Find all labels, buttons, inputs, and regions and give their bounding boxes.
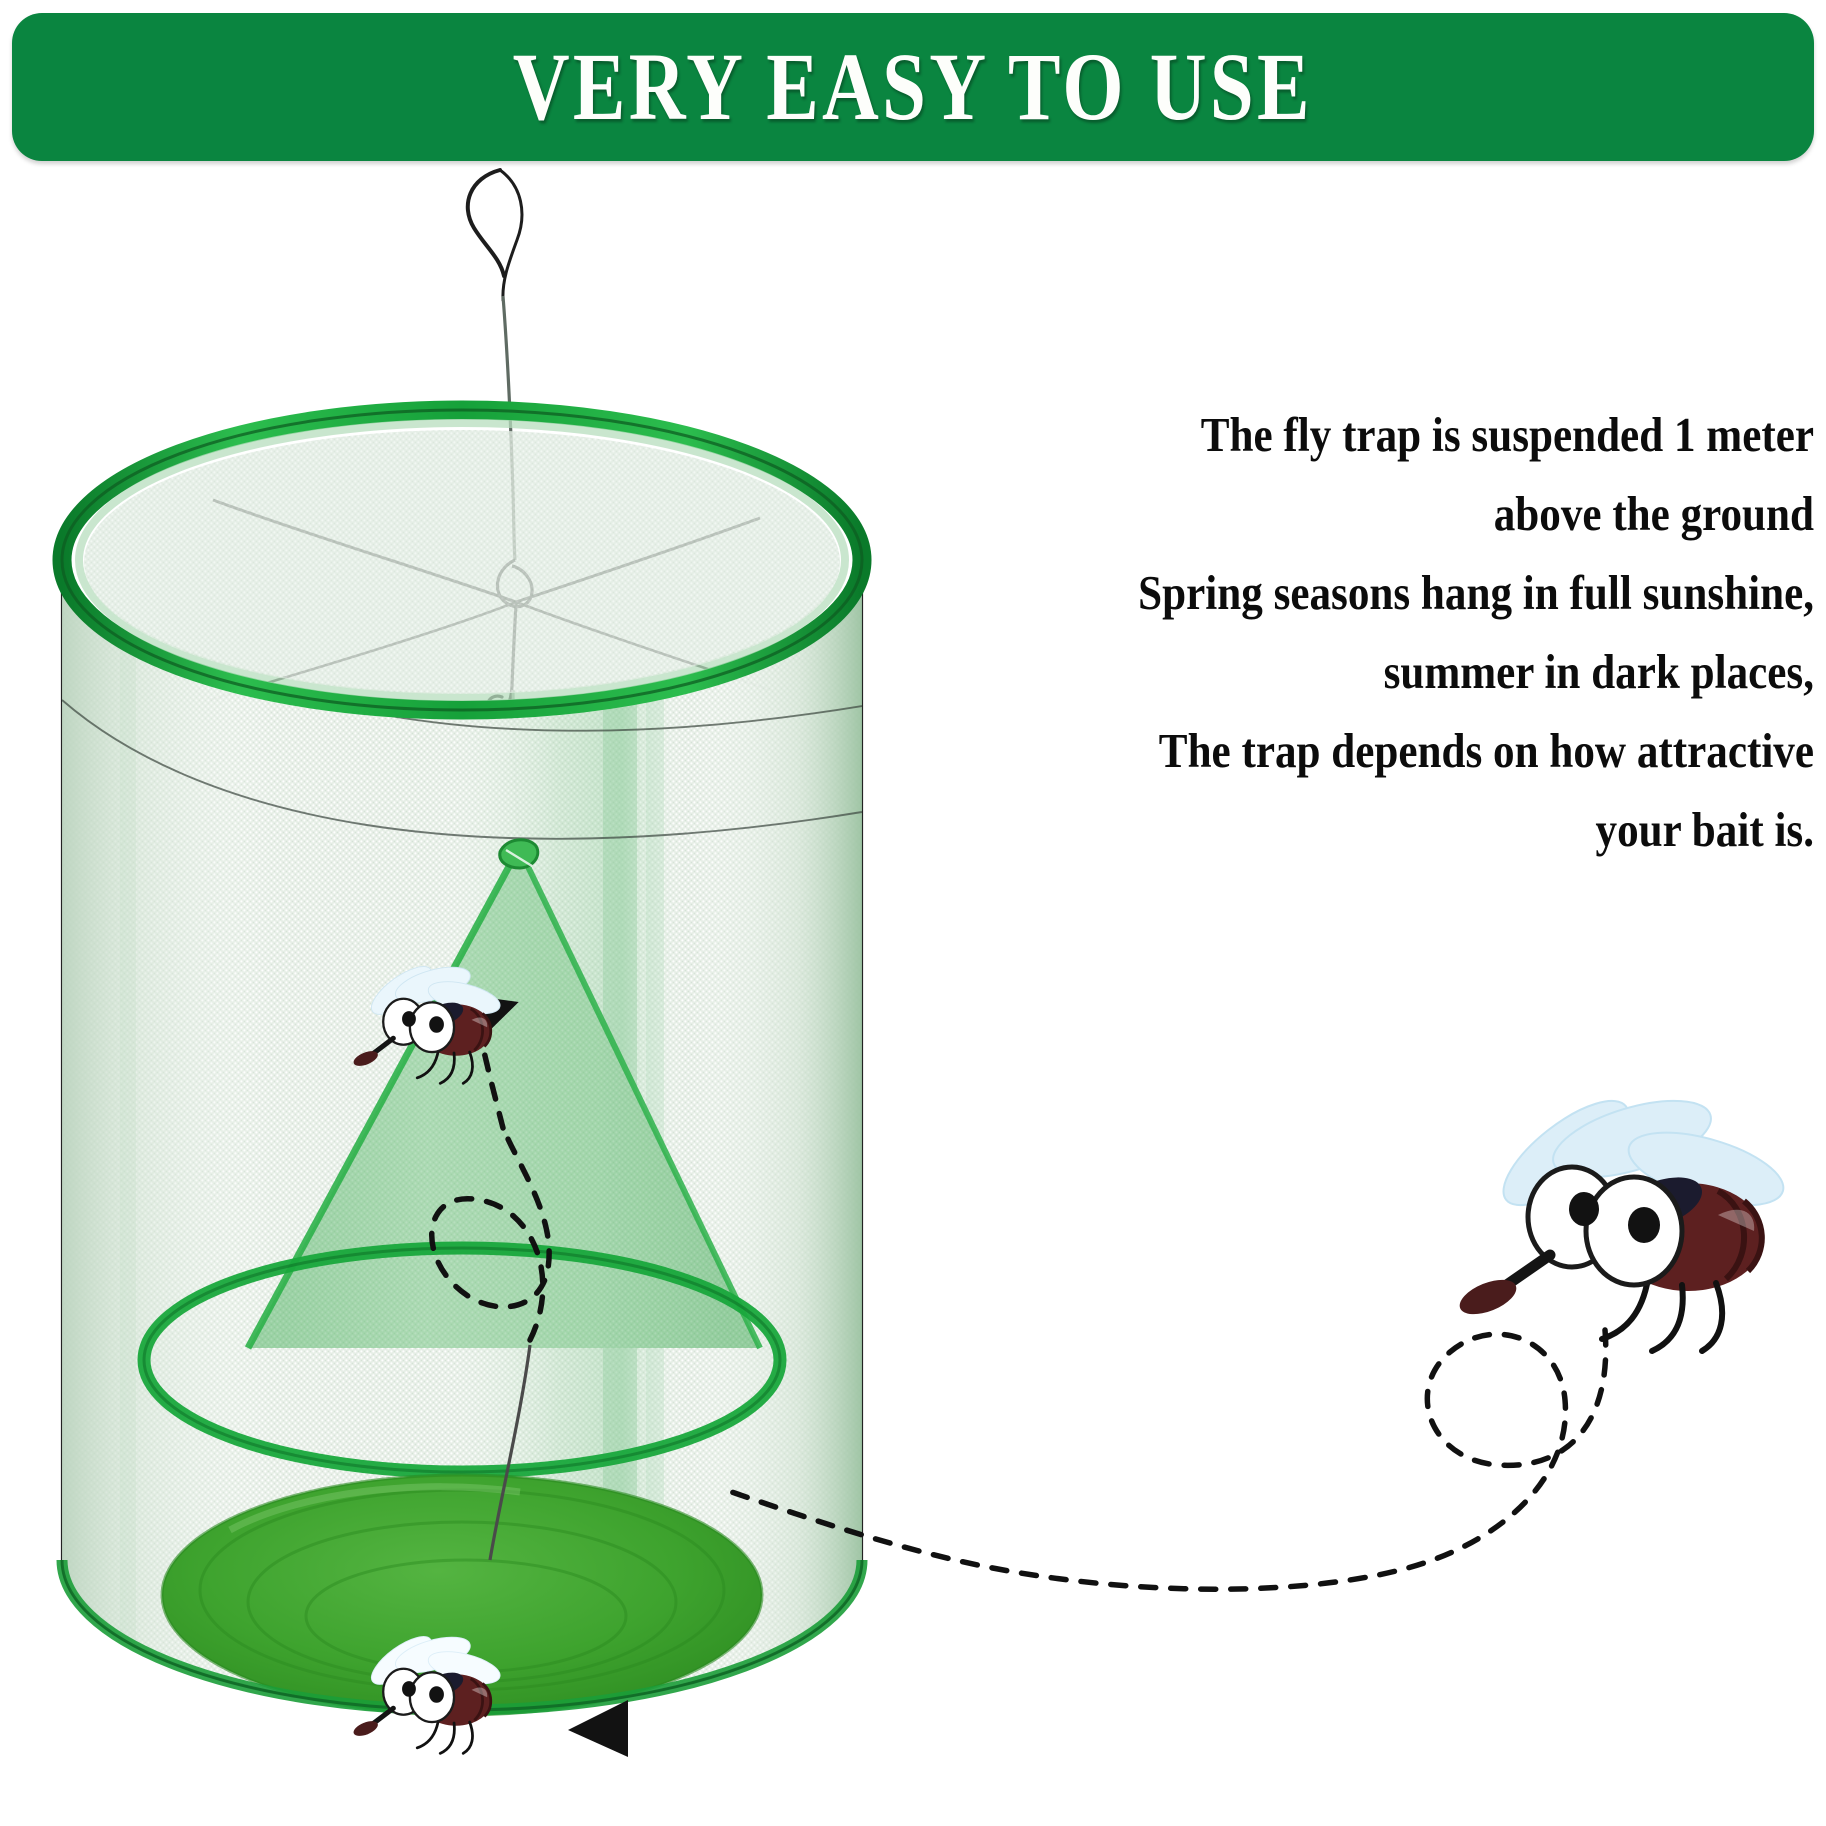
top-rim (62, 410, 862, 710)
fly-wings (364, 1628, 503, 1693)
fly-eyes (383, 999, 454, 1052)
fly-eyes (1528, 1167, 1682, 1285)
mesh-cylinder (62, 420, 862, 1710)
fly-body (420, 1668, 492, 1726)
bottom-rim (62, 1560, 862, 1710)
fly-proboscis (352, 1038, 394, 1069)
fly-body (1611, 1167, 1764, 1291)
lower-rim (144, 1248, 780, 1472)
description-line-1: The fly trap is suspended 1 meter (1040, 395, 1814, 474)
product-illustration (0, 0, 1826, 1826)
arrow-into-dish (568, 1700, 628, 1757)
entry-cone (248, 840, 760, 1348)
fly-eyes (383, 1669, 454, 1722)
description-line-5: The trap depends on how attractive (1040, 711, 1814, 790)
fly-legs (1602, 1279, 1722, 1351)
fly-legs (417, 1050, 472, 1083)
fly-in-dish (352, 1628, 504, 1753)
fly-proboscis (352, 1708, 394, 1739)
description-line-4: summer in dark places, (1040, 632, 1814, 711)
dashed-flight-path-lower (490, 1345, 530, 1560)
arrow-up-cone (462, 978, 527, 1043)
fly-on-cone (352, 958, 504, 1083)
fly-wings (1488, 1083, 1791, 1222)
description-line-6: your bait is. (1040, 790, 1814, 869)
description-block: The fly trap is suspended 1 meter above … (934, 395, 1814, 869)
fly-wings (364, 958, 503, 1023)
fly-outside (1455, 1083, 1791, 1351)
fly-proboscis (1455, 1255, 1550, 1321)
fly-legs (417, 1720, 472, 1753)
bait-dish (162, 1475, 762, 1715)
page-title: VERY EASY TO USE (513, 39, 1313, 135)
header-banner: VERY EASY TO USE (12, 13, 1814, 161)
dashed-flight-path (432, 1000, 1606, 1589)
description-line-2: above the ground (1040, 474, 1814, 553)
fly-body (420, 998, 492, 1056)
suspension-wires (210, 296, 770, 846)
hanging-hook (468, 170, 522, 300)
description-line-3: Spring seasons hang in full sunshine, (1040, 553, 1814, 632)
